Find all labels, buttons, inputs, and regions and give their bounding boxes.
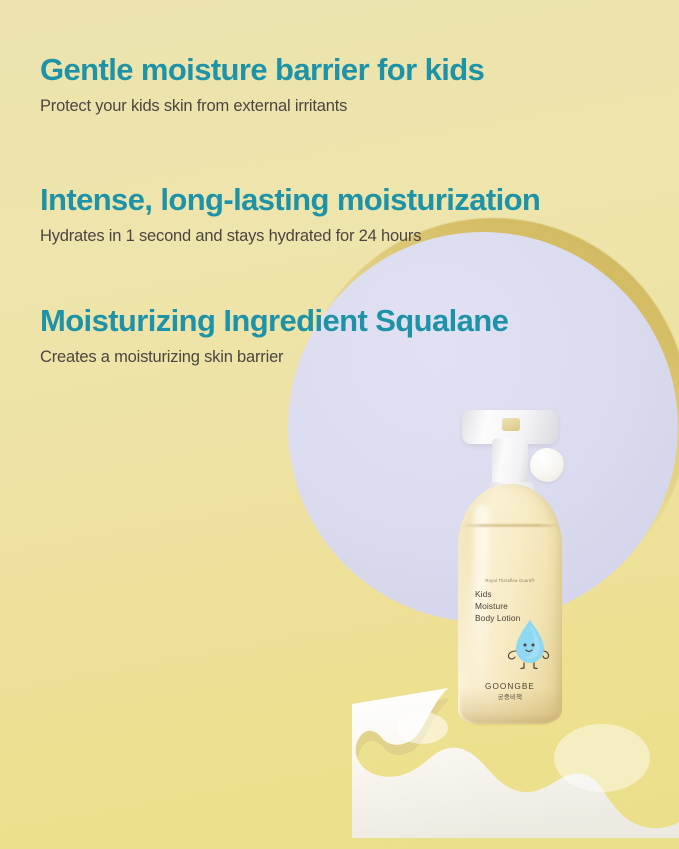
feature-headline-3: Moisturizing Ingredient Squalane: [40, 303, 508, 340]
feature-subheadline-1: Protect your kids skin from external irr…: [40, 96, 484, 117]
label-tagline: Royal Theraflea Guard®: [458, 578, 562, 583]
feature-block-2: Intense, long-lasting moisturization Hyd…: [40, 182, 540, 247]
feature-headline-1: Gentle moisture barrier for kids: [40, 52, 484, 89]
brand-name-korean: 궁중비책: [458, 692, 562, 701]
brand-mark: GOONGBE 궁중비책: [458, 682, 562, 701]
label-name-line-1: Kids: [475, 589, 562, 601]
brand-name-english: GOONGBE: [458, 682, 562, 691]
product-feature-banner: Royal Theraflea Guard® Kids Moisture Bod…: [0, 0, 679, 849]
feature-block-1: Gentle moisture barrier for kids Protect…: [40, 52, 484, 117]
feature-subheadline-2: Hydrates in 1 second and stays hydrated …: [40, 226, 540, 247]
nozzle-foam-blob: [530, 448, 564, 482]
label-name-line-2: Moisture: [475, 601, 562, 613]
feature-subheadline-3: Creates a moisturizing skin barrier: [40, 347, 508, 368]
water-drop-mascot-icon: [506, 618, 550, 670]
cap-badge-icon: [502, 418, 520, 431]
product-bottle: Royal Theraflea Guard® Kids Moisture Bod…: [440, 396, 580, 726]
bottle-shoulder-seam: [460, 524, 560, 527]
feature-block-3: Moisturizing Ingredient Squalane Creates…: [40, 303, 508, 368]
feature-headline-2: Intense, long-lasting moisturization: [40, 182, 540, 219]
